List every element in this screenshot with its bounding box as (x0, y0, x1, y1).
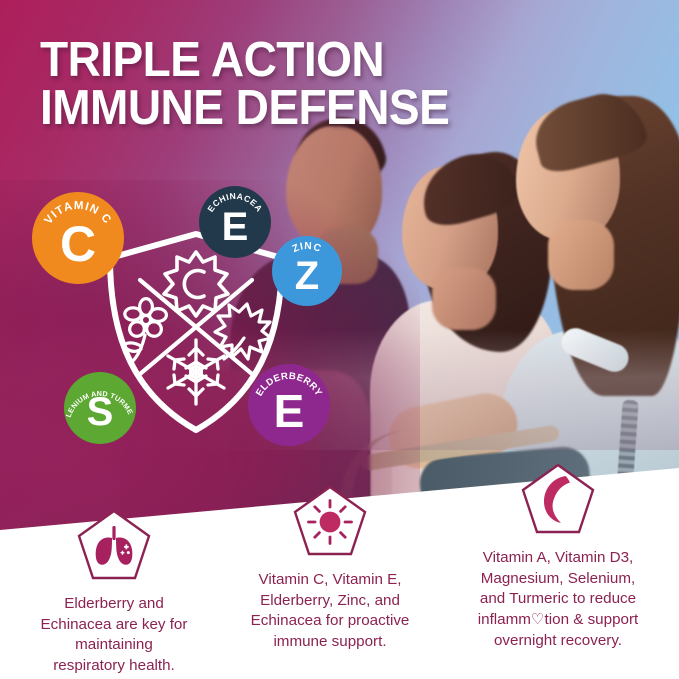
page-title: TRIPLE ACTION IMMUNE DEFENSE (40, 36, 454, 132)
pentagon-sun-svg (292, 484, 368, 560)
benefit-text-overnight: Vitamin A, Vitamin D3, Magnesium, Seleni… (442, 548, 674, 651)
title-line-2: IMMUNE DEFENSE (40, 84, 454, 132)
pentagon-moon-svg (520, 462, 596, 538)
title-line-1: TRIPLE ACTION (40, 36, 454, 84)
badge-selenium-and-turmeric: SELENIUM AND TURMERIC S (64, 372, 136, 444)
badge-vitamin-c-letter: C (32, 219, 124, 269)
benefit-columns: Elderberry and Echinacea are key for mai… (0, 470, 679, 679)
badge-zinc: ZINC Z (272, 236, 342, 306)
pentagon-lungs-svg (76, 508, 152, 584)
badge-echinacea-letter: E (199, 207, 271, 247)
snowflake-icon (168, 340, 224, 404)
benefit-text-respiratory: Elderberry and Echinacea are key for mai… (8, 594, 220, 677)
badge-selenium-letter: S (64, 392, 136, 432)
benefit-column-respiratory: Elderberry and Echinacea are key for mai… (8, 508, 220, 677)
badge-vitamin-c: VITAMIN C C (32, 192, 124, 284)
pentagon-shape (79, 511, 149, 578)
badge-echinacea: ECHINACEA E (199, 186, 271, 258)
benefit-text-proactive: Vitamin C, Vitamin E, Elderberry, Zinc, … (222, 570, 438, 653)
badge-zinc-label: ZINC (291, 241, 323, 255)
pentagon-sun (292, 484, 368, 560)
benefit-column-proactive: Vitamin C, Vitamin E, Elderberry, Zinc, … (222, 484, 438, 653)
pentagon-lungs (76, 508, 152, 584)
badge-elderberry: ELDERBERRY E (248, 364, 330, 446)
svg-text:ZINC: ZINC (291, 241, 323, 255)
sun-icon (309, 501, 352, 544)
pentagon-moon (520, 462, 596, 538)
badge-zinc-letter: Z (272, 256, 342, 296)
product-infographic: TRIPLE ACTION IMMUNE DEFENSE (0, 0, 679, 679)
benefit-column-overnight: Vitamin A, Vitamin D3, Magnesium, Seleni… (442, 462, 674, 651)
flower-icon (123, 299, 166, 362)
badge-elderberry-letter: E (248, 388, 330, 434)
